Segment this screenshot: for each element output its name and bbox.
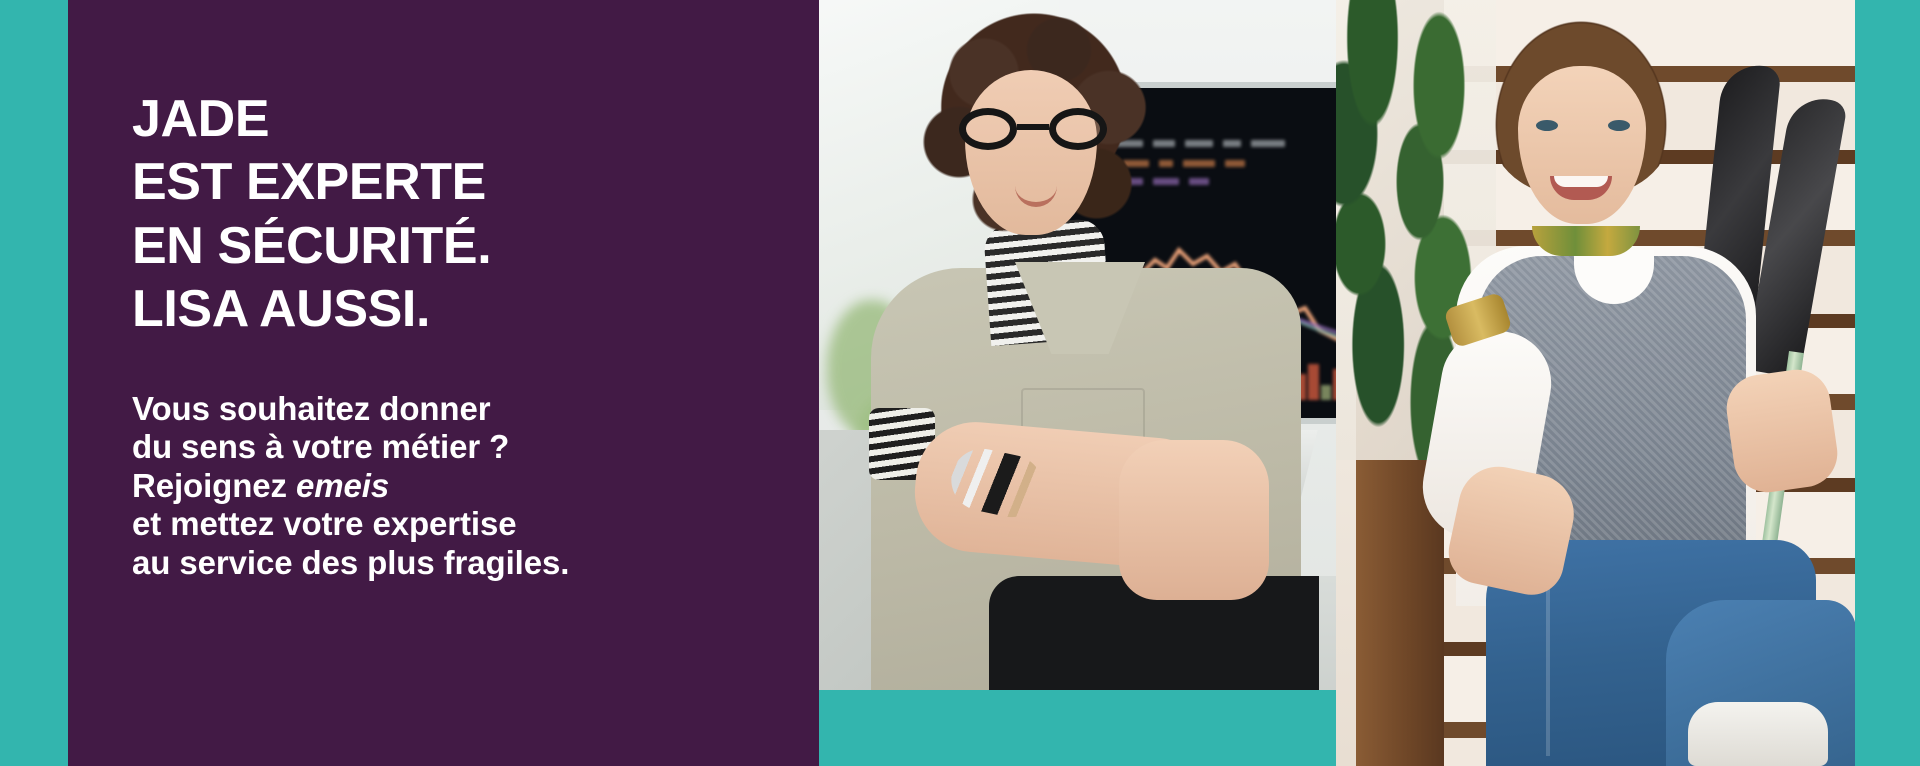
teal-left-border [0,0,68,766]
subcopy-line-2: du sens à votre métier ? [132,428,509,465]
headline: JADE EST EXPERTE EN SÉCURITÉ. LISA AUSSI… [132,88,819,342]
beaded-necklace [1532,226,1640,256]
eyeglasses-icon [959,108,1107,150]
subcopy-line-5: au service des plus fragiles. [132,544,569,581]
subcopy: Vous souhaitez donner du sens à votre mé… [132,390,819,582]
photo-resident-stairs [1336,0,1855,766]
brand-name: emeis [296,467,389,504]
subcopy-line-3-prefix: Rejoignez [132,467,296,504]
photo-office-specialist [819,0,1336,766]
white-shoe [1688,702,1828,766]
photo-collage [819,0,1855,766]
resident-right-hand [1722,365,1841,496]
person-hands [1119,440,1269,600]
resident-eyes [1534,120,1632,132]
subcopy-line-1: Vous souhaitez donner [132,390,490,427]
teal-right-border [1855,0,1920,766]
message-panel: JADE EST EXPERTE EN SÉCURITÉ. LISA AUSSI… [68,0,819,766]
recruitment-banner: JADE EST EXPERTE EN SÉCURITÉ. LISA AUSSI… [0,0,1920,766]
teal-bottom-band [819,690,1336,766]
subcopy-line-4: et mettez votre expertise [132,505,517,542]
